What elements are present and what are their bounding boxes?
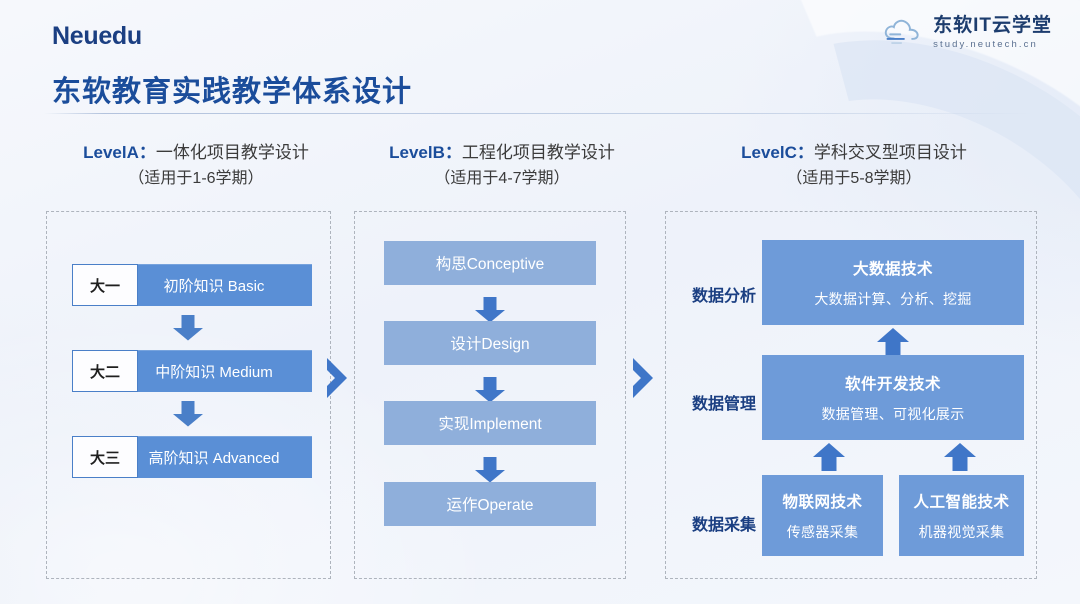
down-arrow-icon bbox=[172, 401, 204, 427]
panel-level-a: 初阶知识 Basic 大一 中阶知识 Medium 大二 高阶知识 Advanc… bbox=[46, 211, 331, 579]
level-c-box-ai: 人工智能技术 机器视觉采集 bbox=[899, 475, 1024, 556]
logo-chinese-name: 东软IT云学堂 bbox=[933, 16, 1052, 35]
up-arrow-icon bbox=[943, 442, 977, 472]
level-c-box-iot-sub: 传感器采集 bbox=[787, 522, 859, 542]
level-heading-a: LevelA：一体化项目教学设计 （适用于1-6学期） bbox=[46, 140, 346, 191]
level-a-chip-3: 大三 bbox=[72, 436, 138, 478]
page-title: 东软教育实践教学体系设计 bbox=[52, 68, 412, 110]
down-arrow-icon bbox=[172, 315, 204, 341]
cloud-icon bbox=[882, 16, 924, 50]
level-c-box-bigdata: 大数据技术 大数据计算、分析、挖掘 bbox=[762, 240, 1024, 325]
level-c-box-software-title: 软件开发技术 bbox=[845, 372, 941, 394]
up-arrow-icon bbox=[876, 327, 910, 357]
down-arrow-icon bbox=[474, 297, 506, 323]
level-c-row-label-1: 数据分析 bbox=[676, 282, 772, 306]
level-c-box-iot: 物联网技术 传感器采集 bbox=[762, 475, 883, 556]
level-heading-c: LevelC：学科交叉型项目设计 （适用于5-8学期） bbox=[668, 140, 1040, 191]
level-a-bar-1: 初阶知识 Basic bbox=[116, 264, 312, 306]
level-a-bar-2: 中阶知识 Medium bbox=[116, 350, 312, 392]
chevron-right-icon bbox=[324, 356, 350, 400]
level-b-step-4: 运作Operate bbox=[384, 482, 596, 526]
panel-level-c: 数据分析 数据管理 数据采集 大数据技术 大数据计算、分析、挖掘 软件开发技术 … bbox=[665, 211, 1037, 579]
panel-level-b: 构思Conceptive 设计Design 实现Implement 运作Oper… bbox=[354, 211, 626, 579]
level-c-box-software: 软件开发技术 数据管理、可视化展示 bbox=[762, 355, 1024, 440]
logo-text-block: 东软IT云学堂 study.neutech.cn bbox=[933, 16, 1052, 50]
level-a-row-2: 中阶知识 Medium 大二 bbox=[72, 350, 312, 392]
level-a-tag: LevelA： bbox=[83, 143, 156, 162]
level-b-step-2: 设计Design bbox=[384, 321, 596, 365]
level-c-name: 学科交叉型项目设计 bbox=[814, 143, 967, 162]
level-a-row-3: 高阶知识 Advanced 大三 bbox=[72, 436, 312, 478]
level-c-row-label-3: 数据采集 bbox=[676, 511, 772, 535]
level-c-box-ai-sub: 机器视觉采集 bbox=[919, 522, 1005, 542]
level-heading-b: LevelB：工程化项目教学设计 （适用于4-7学期） bbox=[352, 140, 652, 191]
level-c-box-bigdata-sub: 大数据计算、分析、挖掘 bbox=[814, 289, 971, 309]
level-a-chip-1: 大一 bbox=[72, 264, 138, 306]
title-divider bbox=[44, 113, 1034, 114]
neutech-logo: 东软IT云学堂 study.neutech.cn bbox=[882, 16, 1052, 50]
level-a-row-1: 初阶知识 Basic 大一 bbox=[72, 264, 312, 306]
level-b-step-3: 实现Implement bbox=[384, 401, 596, 445]
level-b-step-1: 构思Conceptive bbox=[384, 241, 596, 285]
level-c-tag: LevelC： bbox=[741, 143, 814, 162]
down-arrow-icon bbox=[474, 457, 506, 483]
chevron-right-icon bbox=[630, 356, 656, 400]
page-header: Neuedu 东软IT云学堂 study.neutech.cn 东软教育实践教学… bbox=[0, 0, 1080, 120]
level-c-row-label-2: 数据管理 bbox=[676, 390, 772, 414]
level-c-box-ai-title: 人工智能技术 bbox=[913, 490, 1009, 512]
up-arrow-icon bbox=[812, 442, 846, 472]
level-c-term: （适用于5-8学期） bbox=[668, 166, 1040, 191]
level-b-tag: LevelB： bbox=[389, 143, 462, 162]
logo-website-url: study.neutech.cn bbox=[933, 40, 1052, 50]
level-a-chip-2: 大二 bbox=[72, 350, 138, 392]
level-b-term: （适用于4-7学期） bbox=[352, 166, 652, 191]
level-b-name: 工程化项目教学设计 bbox=[462, 143, 615, 162]
level-c-box-software-sub: 数据管理、可视化展示 bbox=[822, 404, 965, 424]
down-arrow-icon bbox=[474, 377, 506, 403]
level-c-box-bigdata-title: 大数据技术 bbox=[853, 257, 933, 279]
level-c-box-iot-title: 物联网技术 bbox=[782, 490, 862, 512]
level-a-term: （适用于1-6学期） bbox=[46, 166, 346, 191]
neuedu-brand-logo: Neuedu bbox=[52, 22, 142, 51]
level-a-name: 一体化项目教学设计 bbox=[156, 143, 309, 162]
level-a-bar-3: 高阶知识 Advanced bbox=[116, 436, 312, 478]
